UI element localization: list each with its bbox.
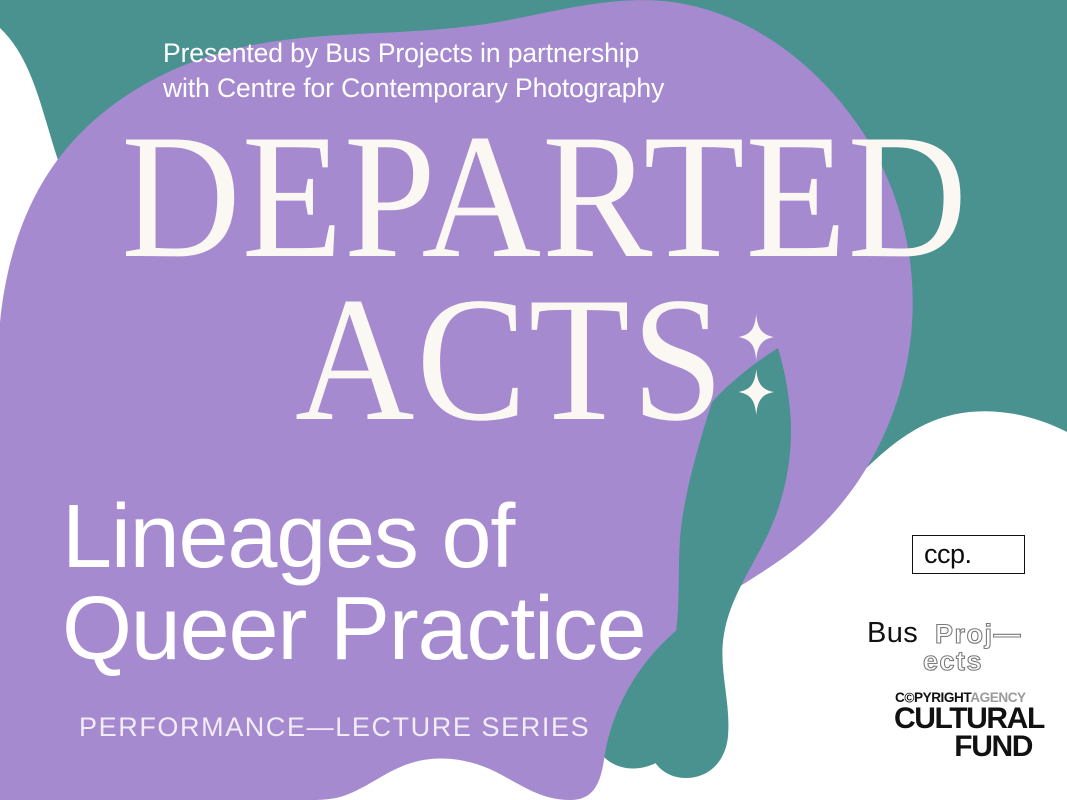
subtitle: Lineages of Queer Practice [62, 492, 645, 676]
presenter-credit: Presented by Bus Projects in partnership… [163, 36, 763, 106]
bus-projects-logo-bus: Bus [867, 619, 918, 648]
cultural-fund-cultural: CULTURAL [894, 705, 1033, 733]
subtitle-line-1: Lineages of [62, 492, 645, 584]
bus-projects-logo-ects: ects [923, 648, 983, 675]
cultural-fund-fund: FUND [893, 733, 1032, 761]
poster-canvas: Presented by Bus Projects in partnership… [0, 0, 1067, 800]
copyright-symbol-icon: © [904, 692, 914, 706]
subtitle-line-2: Queer Practice [62, 584, 645, 676]
presenter-credit-line-2: with Centre for Contemporary Photography [163, 71, 763, 106]
ccp-logo[interactable]: ccp. [912, 535, 1025, 574]
bus-projects-logo[interactable]: Bus Proj— ects [855, 615, 1055, 677]
presenter-credit-line-1: Presented by Bus Projects in partnership [163, 36, 763, 71]
bus-projects-logo-proj: Proj— [935, 621, 1022, 648]
copyright-agency-cultural-fund-logo[interactable]: C©PYRIGHTAGENCY CULTURAL FUND [893, 691, 1033, 761]
background-shapes [0, 0, 1067, 800]
ccp-logo-text: ccp. [924, 541, 972, 568]
series-kicker: PERFORMANCE—LECTURE SERIES [79, 712, 590, 743]
